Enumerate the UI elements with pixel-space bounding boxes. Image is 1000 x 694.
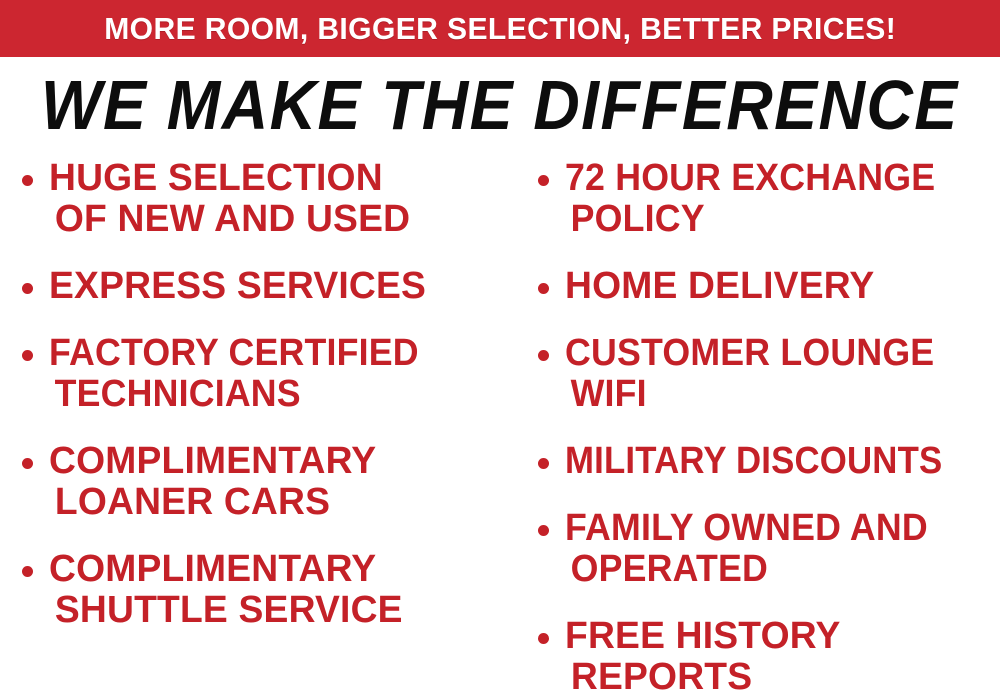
bullet-dot-icon xyxy=(538,633,549,644)
list-item-label: EXPRESS SERVICES xyxy=(49,266,426,307)
list-item: HOME DELIVERY xyxy=(538,266,1000,307)
list-item-line1: FAMILY OWNED AND xyxy=(565,507,928,549)
list-item-line1: HOME DELIVERY xyxy=(565,265,874,307)
list-item: CUSTOMER LOUNGEWIFI xyxy=(538,333,1000,415)
list-item: FAMILY OWNED ANDOPERATED xyxy=(538,508,1000,590)
promotional-banner: MORE ROOM, BIGGER SELECTION, BETTER PRIC… xyxy=(0,0,1000,694)
features-column-left: HUGE SELECTIONOF NEW AND USED EXPRESS SE… xyxy=(0,158,510,657)
list-item: FREE HISTORYREPORTS xyxy=(538,616,1000,694)
list-item: MILITARY DISCOUNTS xyxy=(538,441,1000,482)
headline-container: WE MAKE THE DIFFERENCE xyxy=(0,68,1000,142)
list-item-label: FAMILY OWNED ANDOPERATED xyxy=(565,508,928,590)
bullet-dot-icon xyxy=(538,175,549,186)
list-item-label: FACTORY CERTIFIEDTECHNICIANS xyxy=(49,333,419,415)
list-item-line2: LOANER CARS xyxy=(49,482,376,523)
features-columns: HUGE SELECTIONOF NEW AND USED EXPRESS SE… xyxy=(0,158,1000,694)
list-item-line2: TECHNICIANS xyxy=(49,374,419,415)
list-item-line2: WIFI xyxy=(565,374,934,415)
list-item-label: 72 HOUR EXCHANGEPOLICY xyxy=(565,158,935,240)
list-item: HUGE SELECTIONOF NEW AND USED xyxy=(22,158,510,240)
bullet-dot-icon xyxy=(22,350,33,361)
list-item-line1: COMPLIMENTARY xyxy=(49,440,376,482)
list-item-label: COMPLIMENTARYSHUTTLE SERVICE xyxy=(49,549,403,631)
list-item-label: HOME DELIVERY xyxy=(565,266,874,307)
list-item-line1: FREE HISTORY xyxy=(565,615,841,657)
list-item-label: FREE HISTORYREPORTS xyxy=(565,616,841,694)
bullet-dot-icon xyxy=(22,175,33,186)
bullet-dot-icon xyxy=(538,458,549,469)
list-item-label: HUGE SELECTIONOF NEW AND USED xyxy=(49,158,410,240)
list-item-line1: CUSTOMER LOUNGE xyxy=(565,332,934,374)
list-item-line2: OF NEW AND USED xyxy=(49,199,410,240)
list-item-line1: FACTORY CERTIFIED xyxy=(49,332,419,374)
bullet-dot-icon xyxy=(538,350,549,361)
list-item-line1: EXPRESS SERVICES xyxy=(49,265,426,307)
top-red-strip: MORE ROOM, BIGGER SELECTION, BETTER PRIC… xyxy=(0,0,1000,57)
list-item-line1: 72 HOUR EXCHANGE xyxy=(565,157,935,199)
list-item-line2: OPERATED xyxy=(565,549,928,590)
list-item: EXPRESS SERVICES xyxy=(22,266,510,307)
list-item-line2: POLICY xyxy=(565,199,935,240)
list-item-line1: HUGE SELECTION xyxy=(49,157,383,199)
list-item: COMPLIMENTARYSHUTTLE SERVICE xyxy=(22,549,510,631)
list-item-label: COMPLIMENTARYLOANER CARS xyxy=(49,441,376,523)
list-item: COMPLIMENTARYLOANER CARS xyxy=(22,441,510,523)
list-item-label: MILITARY DISCOUNTS xyxy=(565,441,942,482)
features-column-right: 72 HOUR EXCHANGEPOLICY HOME DELIVERY CUS… xyxy=(510,158,1000,694)
list-item-line1: COMPLIMENTARY xyxy=(49,548,376,590)
bullet-dot-icon xyxy=(538,283,549,294)
bullet-dot-icon xyxy=(22,458,33,469)
list-item-label: CUSTOMER LOUNGEWIFI xyxy=(565,333,934,415)
list-item: FACTORY CERTIFIEDTECHNICIANS xyxy=(22,333,510,415)
strip-headline-text: MORE ROOM, BIGGER SELECTION, BETTER PRIC… xyxy=(104,13,896,44)
list-item-line2: SHUTTLE SERVICE xyxy=(49,590,403,631)
bullet-dot-icon xyxy=(22,566,33,577)
list-item: 72 HOUR EXCHANGEPOLICY xyxy=(538,158,1000,240)
bullet-dot-icon xyxy=(22,283,33,294)
list-item-line2: REPORTS xyxy=(565,657,841,694)
list-item-line1: MILITARY DISCOUNTS xyxy=(565,440,942,482)
bullet-dot-icon xyxy=(538,525,549,536)
page-title: WE MAKE THE DIFFERENCE xyxy=(41,68,959,142)
